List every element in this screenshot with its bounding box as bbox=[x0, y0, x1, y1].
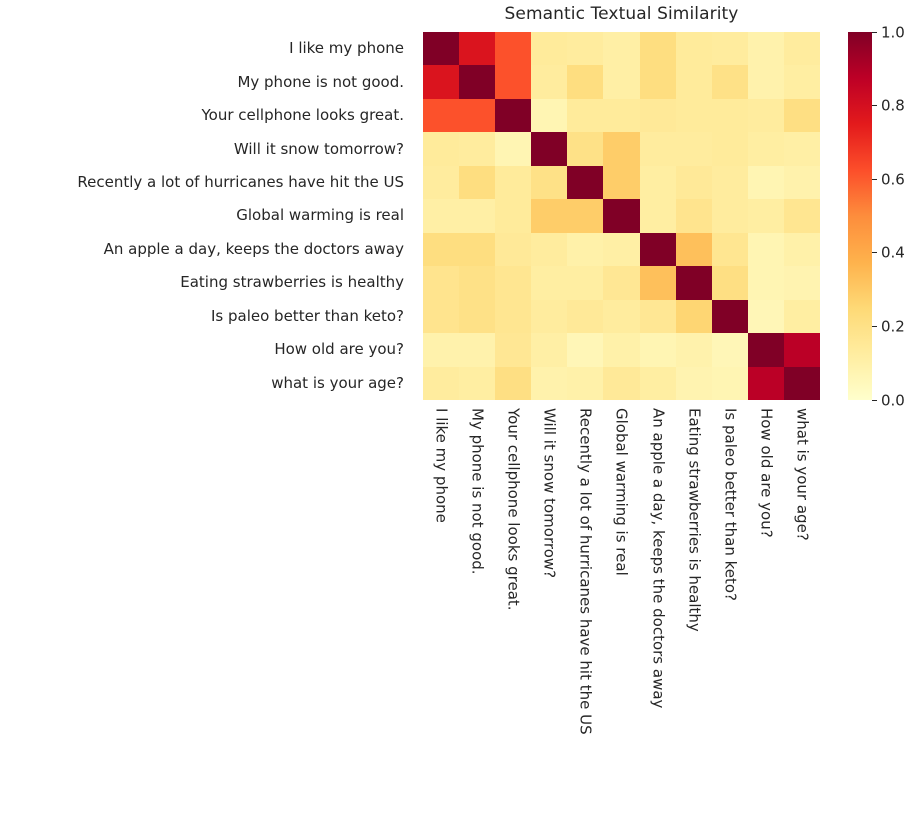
heatmap-cell bbox=[495, 166, 531, 199]
x-axis-tick-slot: Eating strawberries is healthy bbox=[676, 400, 712, 570]
x-axis-tick-slot: what is your age? bbox=[784, 400, 820, 570]
heatmap-cell bbox=[603, 333, 639, 366]
x-axis-tick-slot: How old are you? bbox=[748, 400, 784, 570]
heatmap-cell bbox=[423, 132, 459, 165]
colorbar-tick-text: 0.6 bbox=[881, 172, 905, 187]
heatmap-cell bbox=[423, 166, 459, 199]
x-axis-tick-slot: An apple a day, keeps the doctors away bbox=[640, 400, 676, 570]
heatmap-cell bbox=[531, 233, 567, 266]
heatmap-cell bbox=[531, 65, 567, 98]
heatmap-cell bbox=[423, 333, 459, 366]
heatmap-cell bbox=[748, 333, 784, 366]
heatmap-cell bbox=[748, 199, 784, 232]
heatmap-cell bbox=[531, 166, 567, 199]
heatmap-cell bbox=[603, 99, 639, 132]
heatmap-cell bbox=[459, 233, 495, 266]
heatmap-cell bbox=[748, 132, 784, 165]
heatmap-cell bbox=[640, 266, 676, 299]
y-axis-tick-label: Recently a lot of hurricanes have hit th… bbox=[0, 166, 413, 199]
y-axis-tick-label: Eating strawberries is healthy bbox=[0, 266, 413, 299]
heatmap-cell bbox=[423, 99, 459, 132]
heatmap-cell bbox=[423, 32, 459, 65]
heatmap-cell bbox=[531, 333, 567, 366]
heatmap-cell bbox=[567, 300, 603, 333]
heatmap-cell bbox=[784, 266, 820, 299]
heatmap-cell bbox=[603, 166, 639, 199]
colorbar-tick-labels: 0.00.20.40.60.81.0 bbox=[872, 32, 915, 400]
heatmap-cell bbox=[567, 99, 603, 132]
heatmap-cell bbox=[495, 32, 531, 65]
colorbar-tick-mark bbox=[872, 32, 877, 33]
heatmap-cell bbox=[640, 199, 676, 232]
x-axis-tick-slot: I like my phone bbox=[423, 400, 459, 570]
heatmap-cell bbox=[784, 132, 820, 165]
heatmap-cell bbox=[459, 199, 495, 232]
heatmap-cell bbox=[603, 32, 639, 65]
heatmap-cell bbox=[531, 266, 567, 299]
heatmap-cell bbox=[640, 65, 676, 98]
heatmap-cell bbox=[531, 199, 567, 232]
heatmap-cell bbox=[640, 367, 676, 400]
x-axis-tick-label: what is your age? bbox=[794, 408, 809, 541]
heatmap-cell bbox=[459, 266, 495, 299]
heatmap-cell bbox=[640, 132, 676, 165]
heatmap-cell bbox=[676, 32, 712, 65]
heatmap-cell bbox=[495, 65, 531, 98]
heatmap-cell bbox=[423, 300, 459, 333]
heatmap-cell bbox=[640, 333, 676, 366]
colorbar-tick-mark bbox=[872, 326, 877, 327]
heatmap-cell bbox=[495, 199, 531, 232]
heatmap-cell bbox=[495, 367, 531, 400]
heatmap-cell bbox=[459, 65, 495, 98]
x-axis-tick-slot: Your cellphone looks great. bbox=[495, 400, 531, 570]
y-axis-tick-label: Global warming is real bbox=[0, 199, 413, 232]
heatmap-cell bbox=[712, 166, 748, 199]
colorbar-gradient bbox=[848, 32, 872, 400]
heatmap-cell bbox=[495, 333, 531, 366]
x-axis-tick-label: Will it snow tomorrow? bbox=[542, 408, 557, 578]
x-axis-tick-label: Global warming is real bbox=[614, 408, 629, 576]
heatmap-cell bbox=[784, 32, 820, 65]
heatmap-cell bbox=[676, 132, 712, 165]
heatmap-cell bbox=[423, 65, 459, 98]
x-axis-tick-slot: My phone is not good. bbox=[459, 400, 495, 570]
heatmap-cell bbox=[676, 266, 712, 299]
heatmap-cell bbox=[603, 132, 639, 165]
x-axis-tick-label: Eating strawberries is healthy bbox=[686, 408, 701, 632]
heatmap-cell bbox=[640, 32, 676, 65]
x-axis-tick-label: I like my phone bbox=[434, 408, 449, 523]
heatmap-cell bbox=[459, 300, 495, 333]
heatmap-cell bbox=[603, 300, 639, 333]
x-axis-tick-label: Your cellphone looks great. bbox=[506, 408, 521, 611]
heatmap-cell bbox=[459, 367, 495, 400]
y-axis-tick-label: Is paleo better than keto? bbox=[0, 300, 413, 333]
colorbar-tick-mark bbox=[872, 179, 877, 180]
heatmap-cell bbox=[567, 333, 603, 366]
heatmap-cell bbox=[784, 166, 820, 199]
heatmap-cell bbox=[640, 233, 676, 266]
heatmap-cell bbox=[784, 65, 820, 98]
y-axis-tick-label: An apple a day, keeps the doctors away bbox=[0, 233, 413, 266]
heatmap-cell bbox=[495, 233, 531, 266]
heatmap-cell bbox=[712, 99, 748, 132]
heatmap-cell bbox=[423, 266, 459, 299]
heatmap-cell bbox=[712, 199, 748, 232]
heatmap-cell bbox=[640, 99, 676, 132]
heatmap-cell bbox=[784, 333, 820, 366]
heatmap-cell bbox=[495, 300, 531, 333]
y-axis-tick-label: what is your age? bbox=[0, 367, 413, 400]
heatmap-cell bbox=[459, 166, 495, 199]
y-axis-tick-label: I like my phone bbox=[0, 32, 413, 65]
heatmap-cell bbox=[567, 266, 603, 299]
heatmap-cell bbox=[712, 266, 748, 299]
heatmap-cell bbox=[423, 199, 459, 232]
x-axis-tick-label: Is paleo better than keto? bbox=[722, 408, 737, 601]
heatmap-cell bbox=[495, 99, 531, 132]
heatmap-cell bbox=[459, 32, 495, 65]
colorbar-tick-mark bbox=[872, 252, 877, 253]
heatmap-cell bbox=[495, 266, 531, 299]
heatmap-cell bbox=[567, 132, 603, 165]
y-axis-tick-labels: I like my phoneMy phone is not good.Your… bbox=[0, 32, 413, 400]
heatmap-cell bbox=[676, 199, 712, 232]
x-axis-tick-label: My phone is not good. bbox=[470, 408, 485, 575]
heatmap-cell bbox=[567, 32, 603, 65]
heatmap-cell bbox=[748, 32, 784, 65]
x-axis-tick-label: Recently a lot of hurricanes have hit th… bbox=[578, 408, 593, 735]
heatmap-cell bbox=[784, 99, 820, 132]
heatmap-cell bbox=[423, 233, 459, 266]
heatmap-cell bbox=[676, 333, 712, 366]
heatmap-cell bbox=[567, 199, 603, 232]
x-axis-tick-slot: Will it snow tomorrow? bbox=[531, 400, 567, 570]
chart-title: Semantic Textual Similarity bbox=[423, 4, 820, 24]
heatmap-cell bbox=[712, 32, 748, 65]
y-axis-tick-label: Your cellphone looks great. bbox=[0, 99, 413, 132]
heatmap-cell bbox=[459, 333, 495, 366]
heatmap-cell bbox=[748, 65, 784, 98]
heatmap-cell bbox=[640, 166, 676, 199]
heatmap-cell bbox=[748, 266, 784, 299]
heatmap-cell bbox=[676, 367, 712, 400]
colorbar-tick-text: 1.0 bbox=[881, 25, 905, 40]
colorbar-tick-mark bbox=[872, 105, 877, 106]
x-axis-tick-slot: Is paleo better than keto? bbox=[712, 400, 748, 570]
heatmap-cell bbox=[640, 300, 676, 333]
heatmap-grid bbox=[423, 32, 820, 400]
heatmap-cell bbox=[603, 266, 639, 299]
heatmap-cell bbox=[603, 367, 639, 400]
heatmap-cell bbox=[567, 233, 603, 266]
y-axis-tick-label: Will it snow tomorrow? bbox=[0, 132, 413, 165]
heatmap-cell bbox=[748, 99, 784, 132]
heatmap-cell bbox=[748, 233, 784, 266]
colorbar-tick-text: 0.2 bbox=[881, 319, 905, 334]
colorbar-tick-mark bbox=[872, 400, 877, 401]
heatmap-cell bbox=[459, 132, 495, 165]
semantic-similarity-heatmap-figure: Semantic Textual Similarity I like my ph… bbox=[0, 0, 915, 826]
heatmap-cell bbox=[784, 233, 820, 266]
heatmap-cell bbox=[712, 367, 748, 400]
x-axis-tick-label: An apple a day, keeps the doctors away bbox=[650, 408, 665, 708]
heatmap-cell bbox=[603, 233, 639, 266]
colorbar-tick-text: 0.0 bbox=[881, 393, 905, 408]
x-axis-tick-slot: Global warming is real bbox=[603, 400, 639, 570]
heatmap-cell bbox=[603, 65, 639, 98]
heatmap-cell bbox=[712, 333, 748, 366]
heatmap-cell bbox=[712, 65, 748, 98]
colorbar-tick-text: 0.8 bbox=[881, 99, 905, 114]
x-axis-tick-labels: I like my phoneMy phone is not good.Your… bbox=[423, 400, 820, 570]
heatmap-cell bbox=[495, 132, 531, 165]
heatmap-cell bbox=[567, 166, 603, 199]
heatmap-cell bbox=[531, 300, 567, 333]
heatmap-cell bbox=[784, 367, 820, 400]
heatmap-cell bbox=[676, 166, 712, 199]
heatmap-cell bbox=[748, 367, 784, 400]
heatmap-cell bbox=[676, 99, 712, 132]
y-axis-tick-label: How old are you? bbox=[0, 333, 413, 366]
heatmap-cell bbox=[531, 132, 567, 165]
x-axis-tick-slot: Recently a lot of hurricanes have hit th… bbox=[567, 400, 603, 570]
heatmap-cell bbox=[676, 300, 712, 333]
heatmap-cell bbox=[531, 32, 567, 65]
heatmap-cell bbox=[784, 300, 820, 333]
heatmap-cell bbox=[531, 367, 567, 400]
heatmap-cell bbox=[567, 367, 603, 400]
y-axis-tick-label: My phone is not good. bbox=[0, 65, 413, 98]
heatmap-cell bbox=[676, 233, 712, 266]
heatmap-cell bbox=[423, 367, 459, 400]
x-axis-tick-label: How old are you? bbox=[758, 408, 773, 538]
heatmap-cell bbox=[784, 199, 820, 232]
heatmap-cell bbox=[459, 99, 495, 132]
heatmap-cell bbox=[676, 65, 712, 98]
heatmap-cell bbox=[712, 132, 748, 165]
colorbar-tick-text: 0.4 bbox=[881, 246, 905, 261]
heatmap-cell bbox=[712, 300, 748, 333]
heatmap-cell bbox=[748, 300, 784, 333]
heatmap-cell bbox=[531, 99, 567, 132]
heatmap-cell bbox=[748, 166, 784, 199]
colorbar: 0.00.20.40.60.81.0 bbox=[848, 32, 872, 400]
heatmap-cell bbox=[712, 233, 748, 266]
heatmap-cell bbox=[567, 65, 603, 98]
heatmap-cell bbox=[603, 199, 639, 232]
